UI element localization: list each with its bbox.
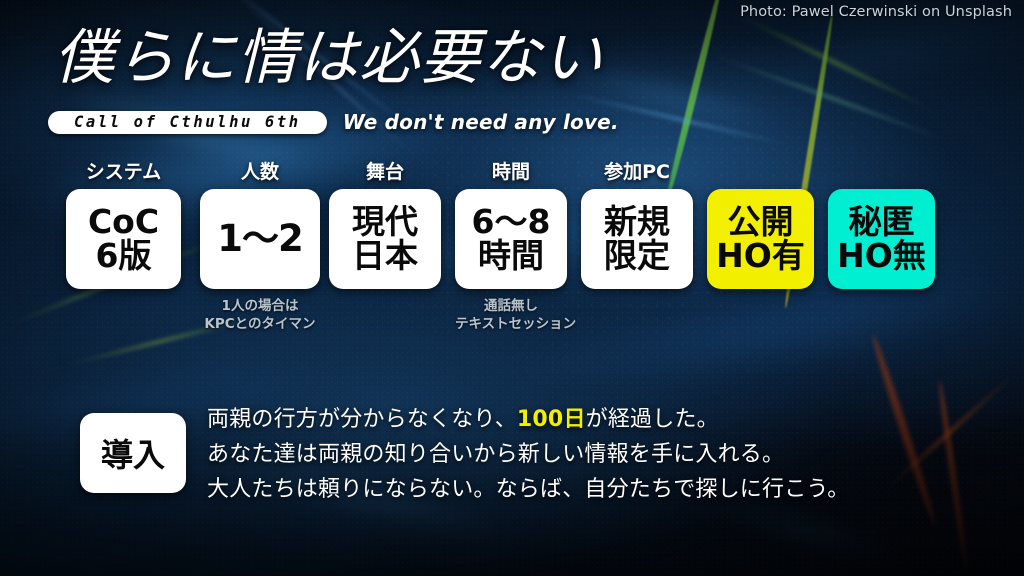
info-note-line: 通話無し [455,298,567,316]
info-card-line: HO有 [716,239,805,273]
info-column-label: 時間 [455,163,567,182]
info-card: 公開HO有 [707,189,814,289]
info-card: 1〜2 [200,189,320,289]
intro-line: 両親の行方が分からなくなり、100日が経過した。 [207,407,849,434]
intro-lines: 両親の行方が分からなくなり、100日が経過した。あなた達は両親の知り合いから新し… [207,407,849,503]
info-column-5: 参加PC新規限定 [581,163,693,289]
info-card-line: 日本 [352,239,418,273]
intro-text: 大人たちは頼りにならない。ならば、自分たちで探しに行こう。 [207,477,849,502]
info-card: 秘匿HO無 [828,189,935,289]
info-card-row: システムCoC6版人数1〜21人の場合はKPCとのタイマン舞台現代日本時間6〜8… [0,163,1024,363]
intro-line: あなた達は両親の知り合いから新しい情報を手に入れる。 [207,442,849,469]
info-card-line: CoC [88,205,159,239]
info-card-line: HO無 [837,239,926,273]
intro-section: 導入 両親の行方が分からなくなり、100日が経過した。あなた達は両親の知り合いか… [0,405,1024,525]
info-card-line: 公開 [728,205,794,239]
info-note-line: テキストセッション [455,316,567,334]
tagline: We don't need any love. [343,110,619,134]
info-card: CoC6版 [66,189,181,289]
intro-badge: 導入 [80,413,186,493]
intro-text: 両親の行方が分からなくなり、 [207,407,517,432]
system-badge: Call of Cthulhu 6th [48,111,327,134]
info-card-line: 現代 [352,205,418,239]
info-column-label: 舞台 [329,163,441,182]
info-card: 6〜8時間 [455,189,567,289]
intro-highlight: 100日 [517,407,586,432]
info-column-label: システム [66,163,181,182]
info-card-line: 限定 [604,239,670,273]
info-card: 現代日本 [329,189,441,289]
info-note-line: 1人の場合は [200,298,320,316]
poster-content: Photo: Pawel Czerwinski on Unsplash 僕らに情… [0,0,1024,576]
title-subrow: Call of Cthulhu 6th We don't need any lo… [48,110,619,134]
info-column-note: 通話無しテキストセッション [455,298,567,334]
page-title: 僕らに情は必要ない [54,28,603,88]
info-note-line: KPCとのタイマン [200,316,320,334]
info-card: 新規限定 [581,189,693,289]
info-card-line: 1〜2 [217,220,303,258]
info-column-1: システムCoC6版 [66,163,181,289]
info-column-7: 秘匿HO無 [828,163,935,289]
info-column-3: 舞台現代日本 [329,163,441,289]
info-column-6: 公開HO有 [707,163,814,289]
info-card-line: 6版 [96,239,152,273]
info-column-4: 時間6〜8時間通話無しテキストセッション [455,163,567,334]
info-card-line: 秘匿 [849,205,915,239]
intro-line: 大人たちは頼りにならない。ならば、自分たちで探しに行こう。 [207,477,849,504]
photo-credit: Photo: Pawel Czerwinski on Unsplash [740,4,1012,20]
info-column-label: 参加PC [581,163,693,182]
intro-text: が経過した。 [586,407,719,432]
info-card-line: 時間 [478,239,544,273]
info-card-line: 新規 [604,205,670,239]
scenario-poster: Photo: Pawel Czerwinski on Unsplash 僕らに情… [0,0,1024,576]
info-column-2: 人数1〜21人の場合はKPCとのタイマン [200,163,320,334]
info-column-label: 人数 [200,163,320,182]
info-card-line: 6〜8 [472,205,551,239]
info-column-note: 1人の場合はKPCとのタイマン [200,298,320,334]
intro-text: あなた達は両親の知り合いから新しい情報を手に入れる。 [207,442,784,467]
